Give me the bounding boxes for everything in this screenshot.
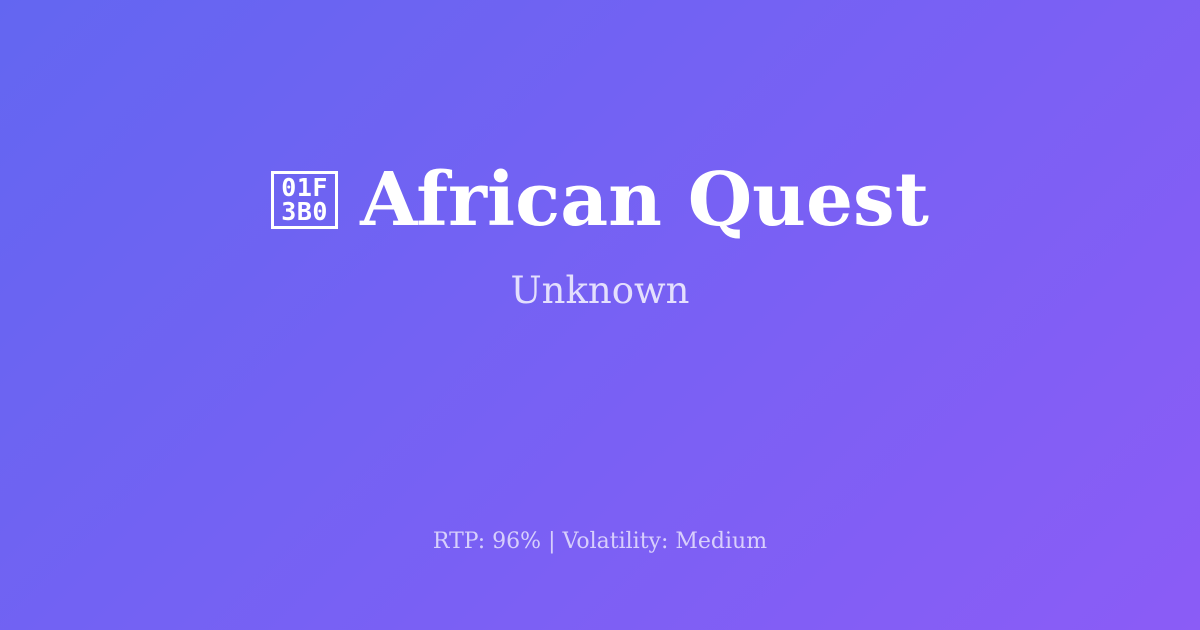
title-block: 01F 3B0 African Quest Unknown — [0, 0, 1200, 470]
slot-machine-icon: 01F 3B0 — [271, 171, 338, 229]
game-stats: RTP: 96% | Volatility: Medium — [0, 527, 1200, 557]
game-subtitle: Unknown — [510, 269, 689, 313]
slot-machine-icon-codepoint-lower: 3B0 — [281, 200, 328, 224]
game-title: African Quest — [360, 157, 929, 243]
game-preview-card: 01F 3B0 African Quest Unknown RTP: 96% |… — [0, 0, 1200, 630]
title-line: 01F 3B0 African Quest — [271, 157, 929, 243]
